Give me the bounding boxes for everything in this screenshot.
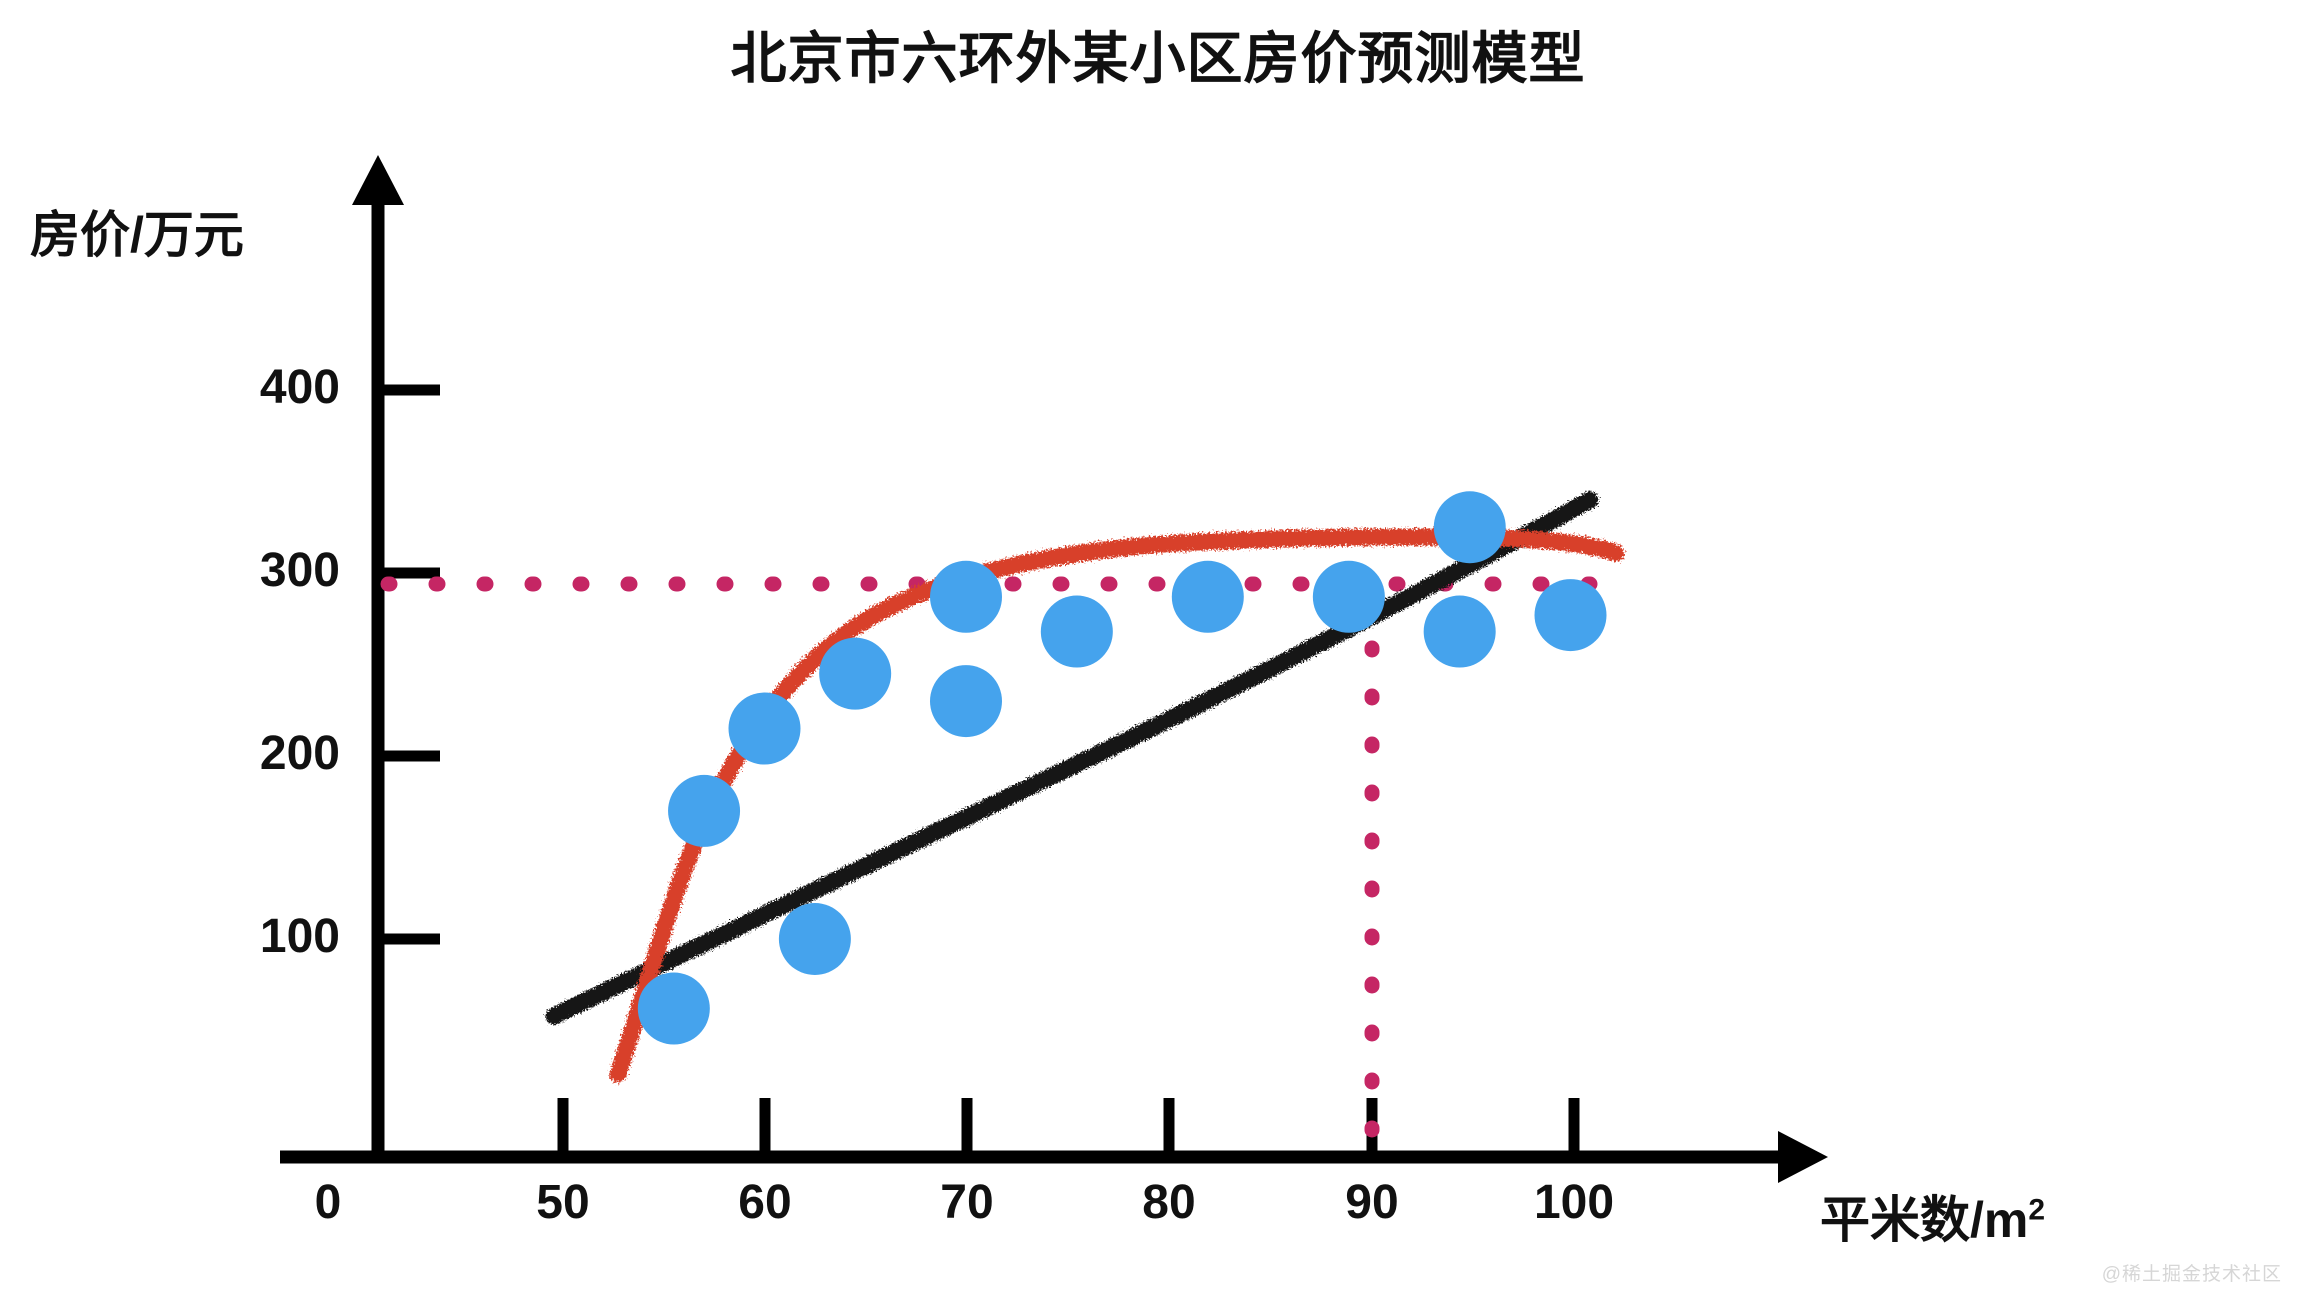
scatter-point: [1172, 561, 1244, 633]
x-tick-label-50: 50: [513, 1175, 613, 1230]
chart-canvas: 北京市六环外某小区房价预测模型 房价/万元 平米数/m2: [0, 0, 2316, 1304]
x-tick-label-90: 90: [1322, 1175, 1422, 1230]
x-origin-label: 0: [278, 1175, 378, 1230]
scatter-point: [1313, 561, 1385, 633]
x-tick-label-80: 80: [1119, 1175, 1219, 1230]
x-tick-label-70: 70: [917, 1175, 1017, 1230]
scatter-point: [1535, 579, 1607, 651]
x-tick-label-100: 100: [1509, 1175, 1639, 1230]
y-tick-label-200: 200: [160, 726, 340, 781]
x-axis-ticks: [378, 1098, 1574, 1157]
y-tick-label-400: 400: [160, 360, 340, 415]
reference-dotted-lines: [388, 584, 1608, 1140]
scatter-point: [779, 903, 851, 975]
y-axis: [352, 155, 404, 1157]
scatter-point: [930, 665, 1002, 737]
scatter-point: [930, 561, 1002, 633]
linear-fit-line: [554, 500, 1590, 1016]
chart-plot-area: [0, 0, 2316, 1304]
x-tick-label-60: 60: [715, 1175, 815, 1230]
watermark: @稀土掘金技术社区: [2102, 1259, 2282, 1286]
scatter-point: [1041, 596, 1113, 668]
scatter-point: [638, 973, 710, 1045]
y-tick-label-300: 300: [160, 543, 340, 598]
scatter-point: [1424, 596, 1496, 668]
scatter-point: [729, 693, 801, 765]
scatter-point: [1434, 491, 1506, 563]
y-axis-ticks: [378, 390, 440, 939]
y-tick-label-100: 100: [160, 909, 340, 964]
scatter-point: [819, 638, 891, 710]
scatter-point: [668, 775, 740, 847]
